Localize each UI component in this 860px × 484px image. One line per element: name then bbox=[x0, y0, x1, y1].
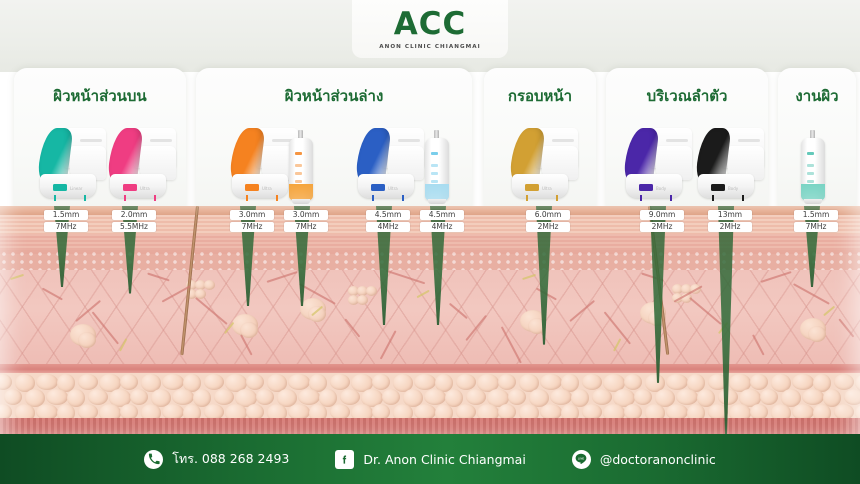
cartridge-base: Body bbox=[698, 174, 754, 198]
cartridge-chip-label: Body bbox=[656, 186, 666, 191]
frequency-value: 2MHz bbox=[708, 222, 752, 232]
phone-icon bbox=[144, 450, 163, 469]
frequency-value: 7MHz bbox=[284, 222, 328, 232]
facebook-icon bbox=[335, 450, 354, 469]
depth-value: 1.5mm bbox=[794, 210, 838, 220]
fat-cell bbox=[36, 374, 58, 390]
fat-cell bbox=[634, 389, 652, 405]
contact-facebook[interactable]: Dr. Anon Clinic Chiangmai bbox=[335, 450, 525, 469]
fat-cell bbox=[214, 389, 234, 405]
phone-label: โทร. 088 268 2493 bbox=[172, 449, 289, 469]
skin-cross-section bbox=[0, 206, 860, 434]
fat-cell bbox=[424, 389, 446, 405]
cartridge-base: Ultra bbox=[358, 174, 414, 198]
category-title: งานผิว bbox=[778, 84, 856, 108]
cartridge-chip-label: Body bbox=[728, 186, 738, 191]
frequency-value: 7MHz bbox=[230, 222, 274, 232]
vial-foot bbox=[804, 199, 822, 204]
fat-cell bbox=[540, 374, 562, 390]
fat-cell bbox=[414, 374, 436, 390]
vial-foot bbox=[292, 199, 310, 204]
fat-cell bbox=[582, 374, 602, 390]
fat-cell bbox=[466, 389, 486, 405]
fat-cell bbox=[372, 374, 390, 390]
fat-cell bbox=[78, 374, 98, 390]
fat-cell bbox=[298, 389, 320, 405]
cartridge-chip-label: Ultra bbox=[262, 186, 272, 191]
fat-cell bbox=[508, 389, 526, 405]
fat-cell bbox=[246, 374, 264, 390]
frequency-value: 5.5MHz bbox=[112, 222, 156, 232]
depth-value: 9.0mm bbox=[640, 210, 684, 220]
cartridge-chip-label: Ultra bbox=[140, 186, 150, 191]
sebaceous-lobule bbox=[366, 286, 377, 296]
depth-value: 1.5mm bbox=[44, 210, 88, 220]
cartridge-chip bbox=[53, 184, 67, 191]
frequency-value: 4MHz bbox=[366, 222, 410, 232]
header-bar: ACC ANON CLINIC CHIANGMAI bbox=[0, 0, 860, 72]
depth-label: 4.5mm4MHz bbox=[420, 210, 464, 233]
category-title: บริเวณลำตัว bbox=[606, 84, 768, 108]
svg-text:LINE: LINE bbox=[578, 457, 585, 461]
contact-phone[interactable]: โทร. 088 268 2493 bbox=[144, 449, 289, 469]
fat-cell bbox=[844, 389, 860, 405]
fat-cell bbox=[256, 389, 274, 405]
cartridge-chip bbox=[245, 184, 259, 191]
cartridge-base: Linear bbox=[40, 174, 96, 198]
cartridge-chip-label: Ultra bbox=[388, 186, 398, 191]
sebaceous-lobule bbox=[204, 280, 215, 290]
vial-band bbox=[289, 184, 313, 200]
depth-value: 4.5mm bbox=[366, 210, 410, 220]
depth-value: 4.5mm bbox=[420, 210, 464, 220]
fat-cell bbox=[4, 389, 22, 405]
depth-label: 1.5mm7MHz bbox=[44, 210, 88, 233]
fat-cell bbox=[204, 374, 224, 390]
contact-line[interactable]: LINE @doctoranonclinic bbox=[572, 450, 716, 469]
depth-label: 13mm2MHz bbox=[708, 210, 752, 233]
frequency-value: 4MHz bbox=[420, 222, 464, 232]
fat-cell bbox=[624, 374, 642, 390]
fat-cell bbox=[792, 374, 814, 390]
depth-label: 2.0mm5.5MHz bbox=[112, 210, 156, 233]
depth-label: 4.5mm4MHz bbox=[366, 210, 410, 233]
depth-label: 6.0mm2MHz bbox=[526, 210, 570, 233]
fat-cell bbox=[750, 374, 768, 390]
vial-band bbox=[801, 184, 825, 200]
cartridge-chip bbox=[639, 184, 653, 191]
logo-acronym: ACC bbox=[394, 9, 467, 40]
depth-value: 3.0mm bbox=[284, 210, 328, 220]
depth-value: 2.0mm bbox=[112, 210, 156, 220]
cartridge-chip bbox=[123, 184, 137, 191]
fat-cell bbox=[550, 389, 572, 405]
cartridge-base: Ultra bbox=[110, 174, 166, 198]
fat-cell bbox=[666, 374, 688, 390]
skin-layer-dermis-base bbox=[0, 364, 860, 373]
cartridge-chip bbox=[711, 184, 725, 191]
clinic-logo: ACC ANON CLINIC CHIANGMAI bbox=[352, 0, 508, 58]
contact-footer: โทร. 088 268 2493 Dr. Anon Clinic Chiang… bbox=[0, 434, 860, 484]
logo-subtitle: ANON CLINIC CHIANGMAI bbox=[379, 44, 480, 50]
frequency-value: 7MHz bbox=[44, 222, 88, 232]
depth-value: 6.0mm bbox=[526, 210, 570, 220]
category-title: กรอบหน้า bbox=[484, 84, 596, 108]
fat-cell bbox=[162, 374, 184, 390]
fat-cell bbox=[802, 389, 824, 405]
depth-value: 13mm bbox=[708, 210, 752, 220]
facebook-label: Dr. Anon Clinic Chiangmai bbox=[363, 452, 525, 467]
cartridge-base: Body bbox=[626, 174, 682, 198]
depth-label: 3.0mm7MHz bbox=[230, 210, 274, 233]
fat-cell bbox=[676, 389, 698, 405]
cartridge-chip-label: Linear bbox=[70, 186, 82, 191]
fat-cell bbox=[88, 389, 108, 405]
depth-label: 1.5mm7MHz bbox=[794, 210, 838, 233]
fat-cell bbox=[760, 389, 778, 405]
fat-cell bbox=[834, 374, 854, 390]
fat-cell bbox=[172, 389, 194, 405]
fat-cell bbox=[46, 389, 68, 405]
category-title: ผิวหน้าส่วนล่าง bbox=[196, 84, 472, 108]
cartridge-base: Ultra bbox=[512, 174, 568, 198]
capillary-loop bbox=[78, 332, 96, 348]
fat-cell bbox=[456, 374, 476, 390]
fat-cell bbox=[592, 389, 612, 405]
cartridge-chip bbox=[525, 184, 539, 191]
line-icon: LINE bbox=[572, 450, 591, 469]
cartridge-base: Ultra bbox=[232, 174, 288, 198]
cartridge-chip-label: Ultra bbox=[542, 186, 552, 191]
depth-label: 9.0mm2MHz bbox=[640, 210, 684, 233]
category-title: ผิวหน้าส่วนบน bbox=[14, 84, 186, 108]
skin-layer-muscle bbox=[0, 418, 860, 434]
fat-cell bbox=[130, 389, 148, 405]
frequency-value: 2MHz bbox=[526, 222, 570, 232]
line-label: @doctoranonclinic bbox=[600, 452, 716, 467]
vial-band bbox=[425, 184, 449, 200]
vial-foot bbox=[428, 199, 446, 204]
capillary-loop bbox=[808, 326, 826, 342]
depth-label: 3.0mm7MHz bbox=[284, 210, 328, 233]
depth-value: 3.0mm bbox=[230, 210, 274, 220]
fat-cell bbox=[330, 374, 350, 390]
infographic-root: ACC ANON CLINIC CHIANGMAI ผิวหน้าส่วนบน … bbox=[0, 0, 860, 484]
fat-cell bbox=[340, 389, 360, 405]
fat-cell bbox=[498, 374, 516, 390]
sebaceous-lobule bbox=[357, 295, 368, 305]
fat-cell bbox=[288, 374, 310, 390]
frequency-value: 2MHz bbox=[640, 222, 684, 232]
fat-cell bbox=[382, 389, 400, 405]
frequency-value: 7MHz bbox=[794, 222, 838, 232]
fat-cell bbox=[120, 374, 138, 390]
cartridge-chip bbox=[371, 184, 385, 191]
